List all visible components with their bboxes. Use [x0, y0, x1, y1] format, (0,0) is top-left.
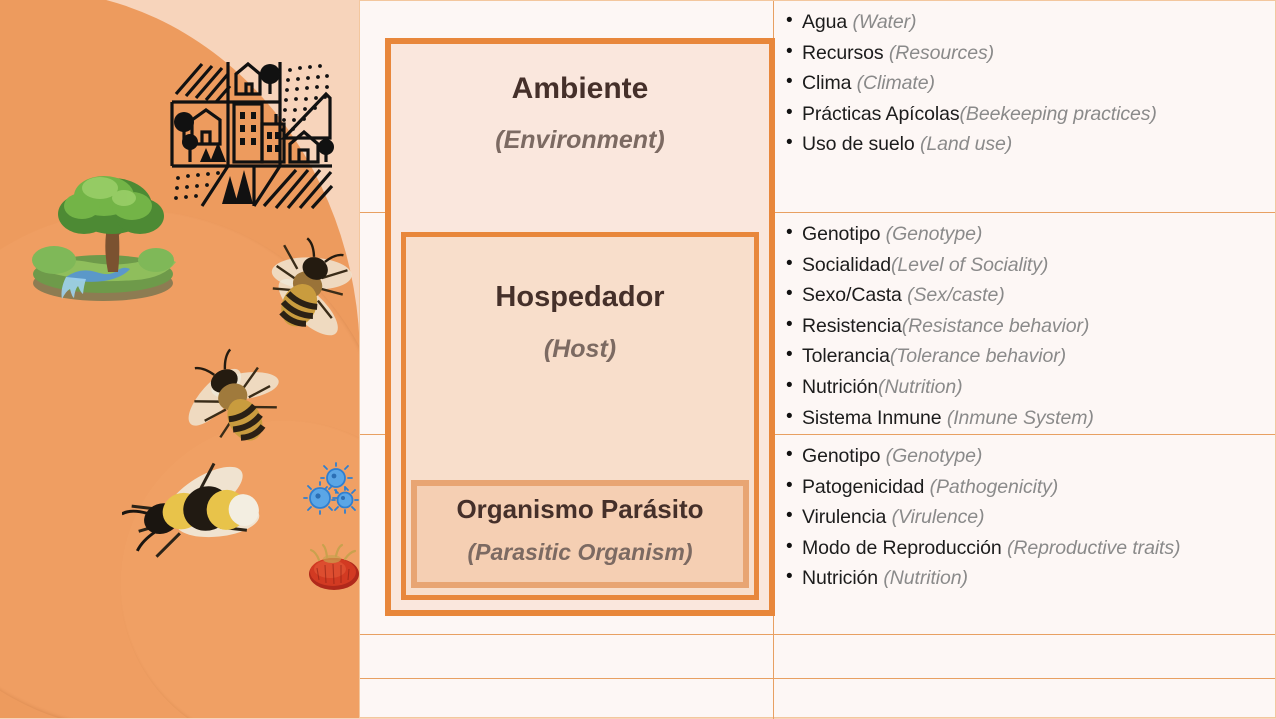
virus-cluster-image [300, 462, 360, 524]
list-item: Nutrición (Nutrition) [786, 563, 1275, 594]
level-name-cell-parasite [360, 435, 774, 634]
empty-cell-left [360, 635, 774, 678]
diagram-root: Agua (Water) Recursos (Resources) Clima … [0, 0, 1276, 718]
illustration-panel [0, 0, 360, 718]
list-item: Resistencia(Resistance behavior) [786, 311, 1275, 342]
table-row: Genotipo (Genotype) Patogenicidad (Patho… [360, 435, 1275, 635]
empty-cell-right [774, 679, 1275, 719]
table-row: Agua (Water) Recursos (Resources) Clima … [360, 1, 1275, 213]
land-use-pictogram [168, 58, 336, 210]
list-item: Patogenicidad (Pathogenicity) [786, 472, 1275, 503]
attributes-table: Agua (Water) Recursos (Resources) Clima … [359, 0, 1276, 718]
list-item: Modo de Reproducción (Reproductive trait… [786, 533, 1275, 564]
tree-landscape-image [28, 160, 178, 305]
table-row: Genotipo (Genotype) Socialidad(Level of … [360, 213, 1275, 435]
list-item: Recursos (Resources) [786, 38, 1275, 69]
list-item: Sexo/Casta (Sex/caste) [786, 280, 1275, 311]
list-item: Agua (Water) [786, 7, 1275, 38]
attribute-list-host: Genotipo (Genotype) Socialidad(Level of … [774, 213, 1275, 433]
empty-cell-left [360, 679, 774, 719]
level-attributes-cell-parasite: Genotipo (Genotype) Patogenicidad (Patho… [774, 435, 1275, 634]
empty-cell-right [774, 635, 1275, 678]
list-item: Uso de suelo (Land use) [786, 129, 1275, 160]
level-attributes-cell-environment: Agua (Water) Recursos (Resources) Clima … [774, 1, 1275, 212]
table-row-empty [360, 635, 1275, 679]
list-item: Genotipo (Genotype) [786, 219, 1275, 250]
level-name-cell-host [360, 213, 774, 434]
list-item: Sistema Inmune (Inmune System) [786, 403, 1275, 434]
honeybee-image-2 [180, 348, 292, 458]
list-item: Virulencia (Virulence) [786, 502, 1275, 533]
list-item: Clima (Climate) [786, 68, 1275, 99]
list-item: Genotipo (Genotype) [786, 441, 1275, 472]
honeybee-image-1 [246, 232, 360, 344]
table-row-empty [360, 679, 1275, 719]
varroa-mite-image [305, 542, 360, 594]
bumblebee-image [122, 450, 262, 578]
level-attributes-cell-host: Genotipo (Genotype) Socialidad(Level of … [774, 213, 1275, 434]
list-item: Prácticas Apícolas(Beekeeping practices) [786, 99, 1275, 130]
attribute-list-environment: Agua (Water) Recursos (Resources) Clima … [774, 1, 1275, 160]
level-name-cell-environment [360, 1, 774, 212]
list-item: Socialidad(Level of Sociality) [786, 250, 1275, 281]
list-item: Nutrición(Nutrition) [786, 372, 1275, 403]
attribute-list-parasite: Genotipo (Genotype) Patogenicidad (Patho… [774, 435, 1275, 594]
list-item: Tolerancia(Tolerance behavior) [786, 341, 1275, 372]
